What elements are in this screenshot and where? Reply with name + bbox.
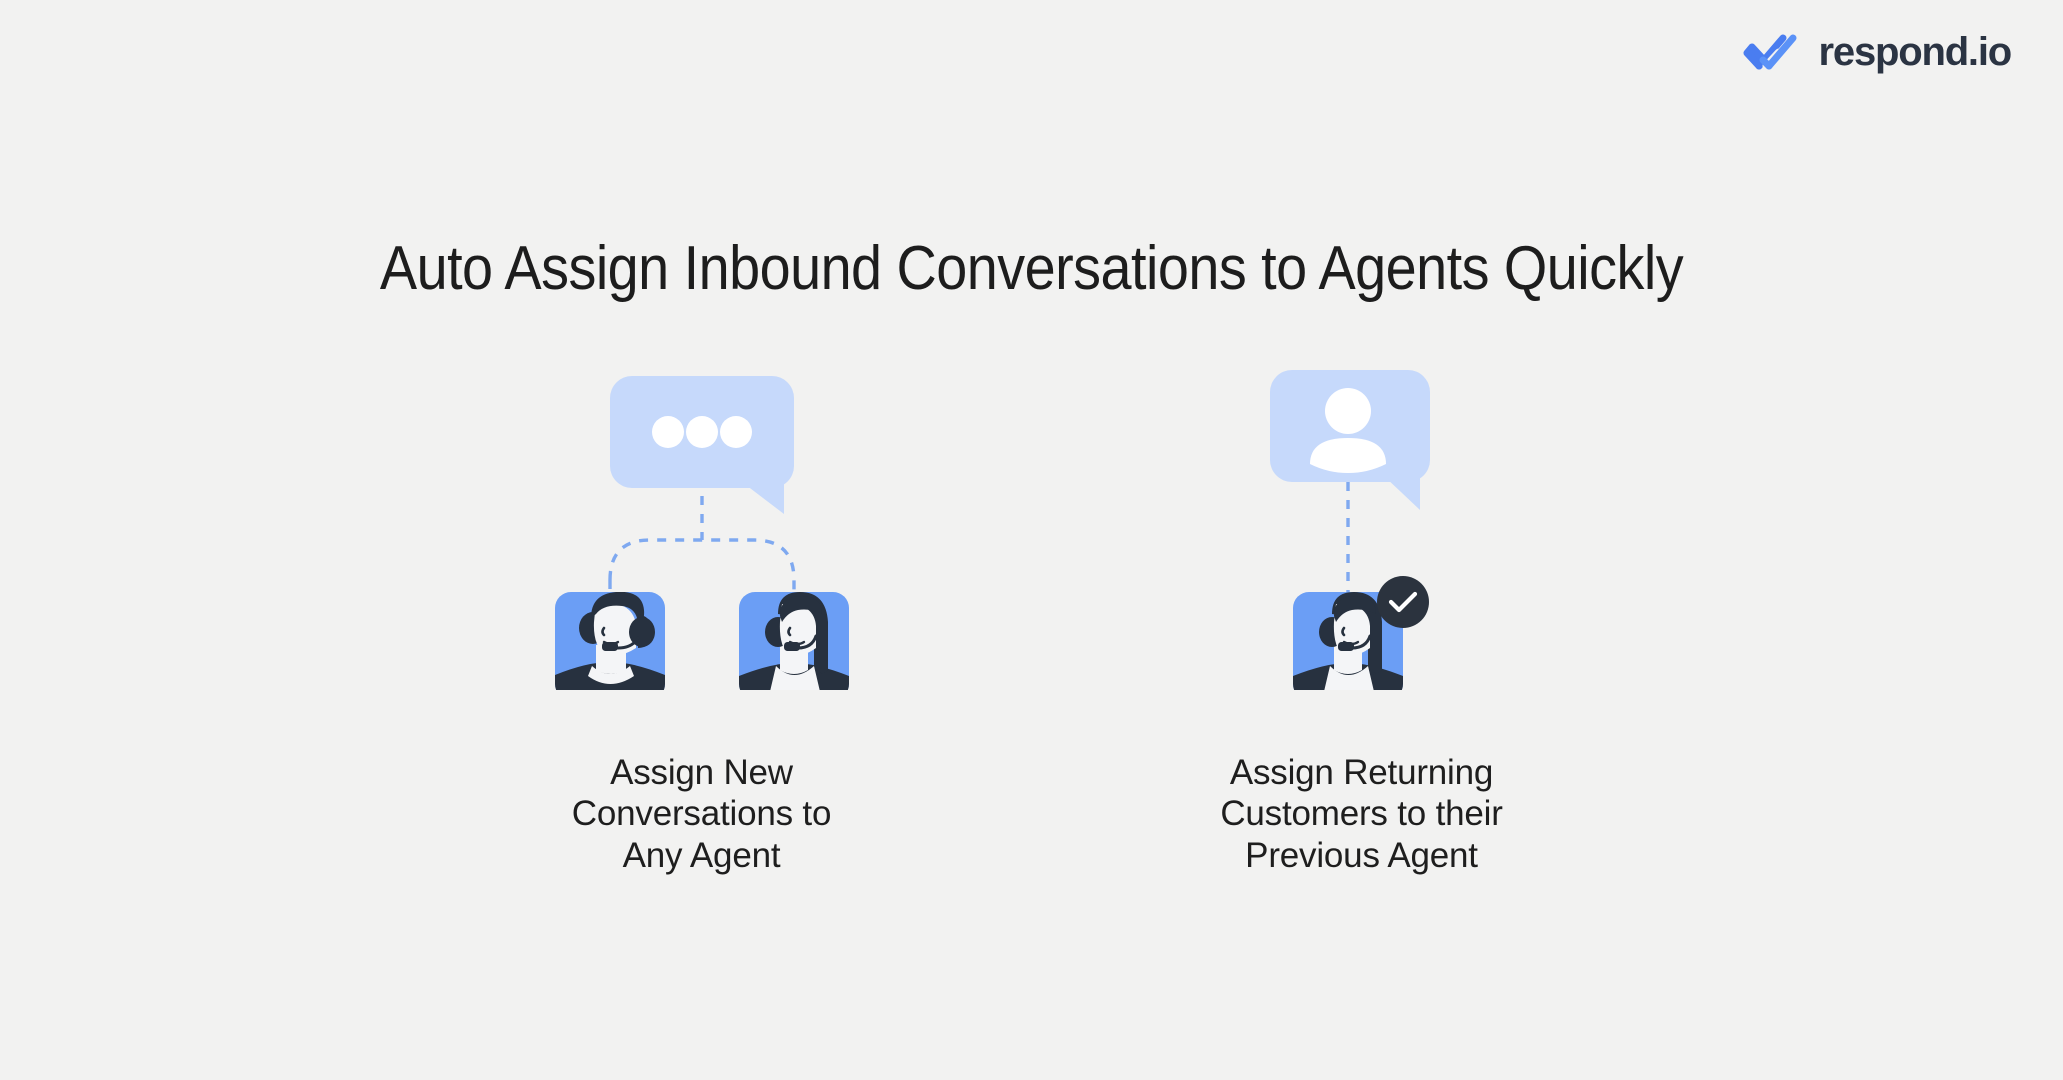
brand-logo[interactable]: respond.io	[1743, 30, 2011, 74]
agent-female-avatar	[739, 592, 849, 690]
page-title: Auto Assign Inbound Conversations to Age…	[103, 238, 1960, 300]
check-badge-icon	[1377, 576, 1429, 628]
typing-dot	[720, 416, 752, 448]
feature-column-assign-new-conversations: Assign New Conversations to Any Agent	[372, 370, 1032, 876]
typing-dots-bubble-icon	[610, 376, 794, 514]
branching-assignment-diagram	[492, 370, 912, 690]
feature-columns: Assign New Conversations to Any Agent	[0, 370, 2063, 876]
caption-assign-new-conversations: Assign New Conversations to Any Agent	[572, 752, 831, 876]
caption-assign-returning-customers: Assign Returning Customers to their Prev…	[1220, 752, 1502, 876]
feature-column-assign-returning-customers: Assign Returning Customers to their Prev…	[1032, 370, 1692, 876]
brand-logo-text: respond.io	[1819, 32, 2011, 72]
user-profile-bubble-icon	[1270, 370, 1430, 510]
double-check-icon	[1743, 30, 1805, 74]
typing-dot	[652, 416, 684, 448]
returning-customer-diagram	[1152, 370, 1572, 690]
typing-dot	[686, 416, 718, 448]
agent-male-avatar	[555, 592, 665, 690]
illustration-assign-returning-customers	[1032, 370, 1692, 690]
illustration-assign-new-conversations	[372, 370, 1032, 690]
